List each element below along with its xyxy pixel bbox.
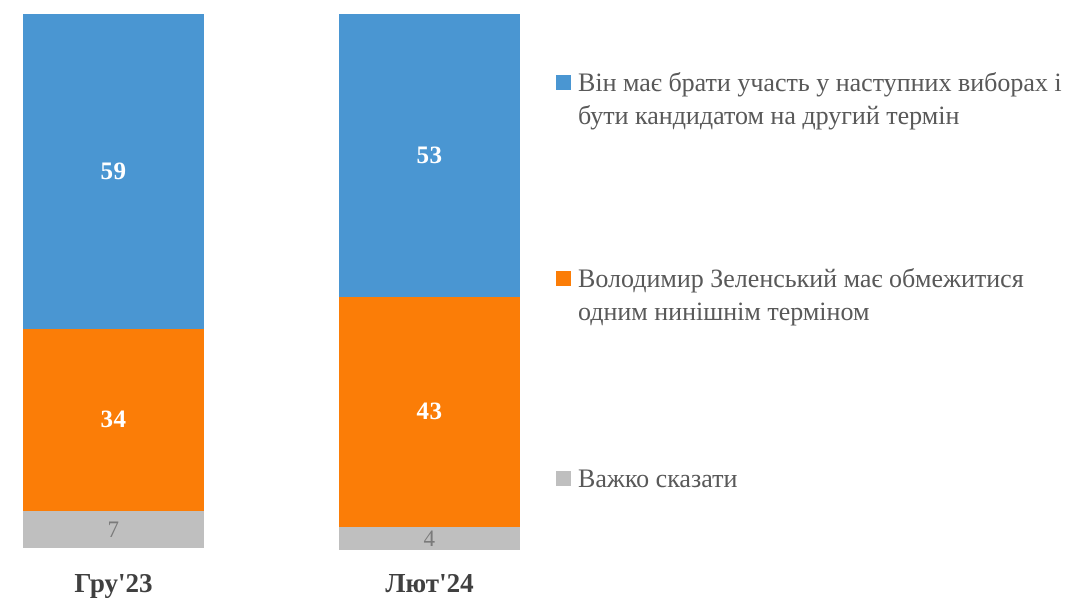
bar-value-label: 34 — [101, 407, 127, 432]
legend-item-label: Володимир Зеленський має обмежитися одни… — [578, 262, 1076, 328]
category-label-lyut24: Лют'24 — [339, 563, 520, 603]
legend-swatch-icon — [556, 271, 571, 286]
stacked-bar-chart: 59 34 7 53 43 4 Гру'23 Лют'24 В — [0, 0, 1082, 614]
legend-item-series2[interactable]: Володимир Зеленський має обмежитися одни… — [556, 262, 1076, 328]
category-label-gru23: Гру'23 — [23, 563, 204, 603]
bar-segment-series2-gru23[interactable]: 34 — [23, 329, 204, 511]
legend-item-label: Важко сказати — [578, 462, 737, 495]
chart-legend: Він має брати участь у наступних виборах… — [556, 0, 1082, 614]
bar-column-lyut24[interactable]: 53 43 4 — [339, 14, 520, 548]
bar-value-label: 59 — [101, 159, 127, 184]
bar-value-label: 4 — [424, 527, 436, 550]
legend-swatch-icon — [556, 471, 571, 486]
bar-value-label: 53 — [417, 143, 443, 168]
bar-value-label: 7 — [108, 518, 120, 541]
legend-swatch-icon — [556, 75, 571, 90]
bar-segment-series3-gru23[interactable]: 7 — [23, 511, 204, 548]
bar-segment-series3-lyut24[interactable]: 4 — [339, 527, 520, 550]
legend-item-series1[interactable]: Він має брати участь у наступних виборах… — [556, 66, 1076, 132]
bar-value-label: 43 — [417, 399, 443, 424]
bar-column-gru23[interactable]: 59 34 7 — [23, 14, 204, 548]
legend-item-label: Він має брати участь у наступних виборах… — [578, 66, 1076, 132]
bar-segment-series1-lyut24[interactable]: 53 — [339, 14, 520, 297]
plot-area: 59 34 7 53 43 4 Гру'23 Лют'24 — [0, 0, 560, 614]
bar-segment-series2-lyut24[interactable]: 43 — [339, 297, 520, 527]
bar-segment-series1-gru23[interactable]: 59 — [23, 14, 204, 329]
legend-item-series3[interactable]: Важко сказати — [556, 462, 1076, 495]
